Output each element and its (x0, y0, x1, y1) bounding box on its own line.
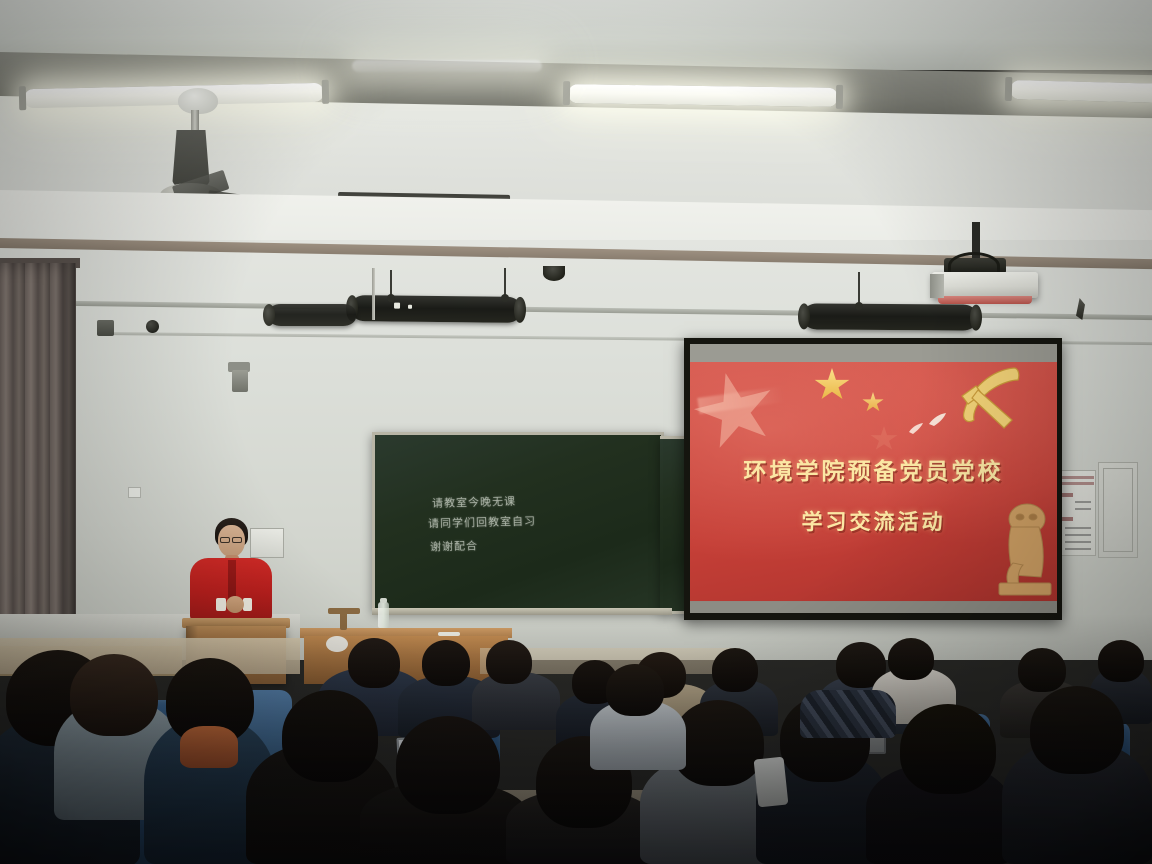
presenter-glasses-right (232, 537, 242, 543)
classroom-photo-scene: 请教室今晚无课 请同学们回教室自习 谢谢配合 (0, 0, 1152, 864)
presenter-hands (226, 596, 244, 613)
audience-head-near-11 (606, 664, 664, 716)
patterned-jacket (800, 690, 896, 738)
track-light-bar-1 (352, 295, 520, 323)
blackboard-chalk-line-1: 请教室今晚无课 (432, 493, 516, 511)
stone-lion-icon (993, 497, 1053, 597)
slide-title-line-1: 环境学院预备党员党校 (690, 452, 1057, 486)
audience-head-far-2 (422, 640, 470, 686)
fluorescent-tube-2 (568, 84, 838, 107)
audience-head-far-9 (1018, 648, 1066, 692)
window-curtain[interactable] (0, 263, 76, 648)
projection-screen-surface: 环境学院预备党员党校 学习交流活动 (690, 344, 1057, 613)
notice-board-1 (1056, 470, 1096, 556)
audience-head-far-10 (1098, 640, 1144, 682)
light-hanger-1 (390, 270, 392, 298)
chalk-tray (372, 608, 672, 615)
projector-body (932, 272, 1038, 298)
presenter-glasses (220, 537, 230, 543)
audience-head-near-4 (282, 690, 378, 782)
light-hanger-2 (504, 268, 506, 298)
wall-bracket-speaker (232, 370, 248, 392)
white-shirt-collar (754, 757, 789, 808)
light-hanger-3 (858, 272, 860, 306)
bottle-cap (380, 598, 387, 603)
wall-speaker-box (97, 320, 114, 336)
audience-head-far-8 (888, 638, 934, 680)
audience-head-far-3 (486, 640, 532, 684)
audience-neck-collar-orange (180, 726, 238, 768)
fluorescent-tube-4 (352, 60, 542, 72)
track-light-bar-2 (804, 303, 976, 330)
track-light-bar-3 (268, 304, 356, 326)
hair-bow-ornament (326, 636, 348, 652)
blackboard-chalk-line-2: 请同学们回教室自习 (428, 513, 536, 532)
audience-head-near-10 (1030, 686, 1124, 774)
audience-head-far-1 (348, 638, 400, 688)
fan-rod-1 (191, 110, 199, 132)
dove-icon-1 (908, 422, 928, 436)
projector-lens-glow (938, 296, 1032, 304)
projector-shadow (930, 274, 944, 298)
ceiling-speaker-dome (543, 266, 565, 281)
projection-screen: 环境学院预备党员党校 学习交流活动 (684, 338, 1062, 620)
presenter-cuff-right (243, 598, 252, 611)
audience-head-far-6 (712, 648, 758, 692)
hammer-and-sickle-emblem (942, 362, 1024, 434)
audience-head-near-9 (900, 704, 996, 794)
audience-head-near-5 (396, 716, 500, 814)
microphone-pole (340, 612, 347, 630)
wall-frame-small (250, 528, 284, 558)
audience-head-near-2 (70, 654, 158, 736)
notice-board-2-inner (1103, 468, 1133, 552)
water-bottle[interactable] (378, 602, 389, 628)
ceiling-drop-pole (372, 268, 375, 320)
desk-marker[interactable] (438, 632, 460, 636)
presenter-cuff-left (216, 598, 226, 611)
security-camera-dome (146, 320, 159, 333)
blackboard-chalk-line-3: 谢谢配合 (430, 537, 478, 554)
wall-switch-plate (128, 487, 141, 498)
fluorescent-tube-3 (1010, 80, 1152, 103)
